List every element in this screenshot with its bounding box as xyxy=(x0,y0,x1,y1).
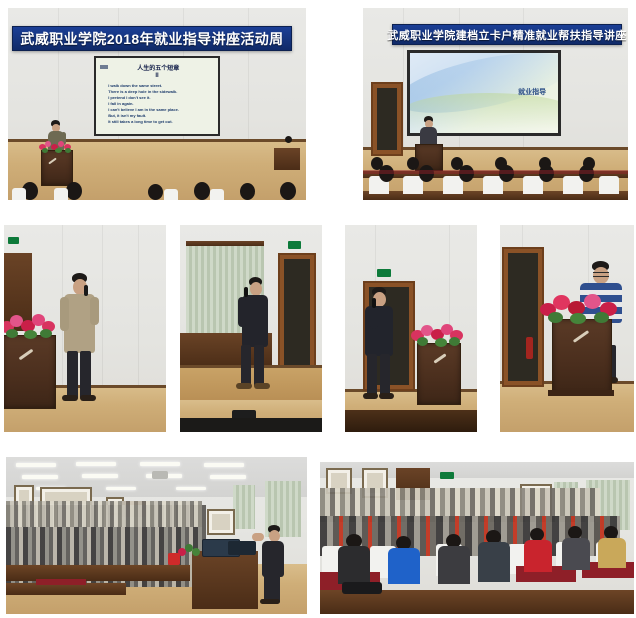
photo-5 xyxy=(345,225,477,432)
podium-flowers-5 xyxy=(411,321,465,347)
side-desk xyxy=(274,148,300,170)
photo-2: 武威职业学院建档立卡户精准就业帮扶指导讲座 就业指导 xyxy=(363,8,628,200)
slide-line-3: I pretend I don't see it. xyxy=(108,95,211,100)
front-bench xyxy=(345,410,477,432)
ceiling-light xyxy=(210,475,246,479)
bench-row xyxy=(6,565,190,581)
slide-line-7: It still takes a long time to get out. xyxy=(108,119,211,124)
ceiling-light xyxy=(106,487,136,490)
door-fire-extinguisher xyxy=(526,337,533,359)
speaker-leg-right xyxy=(254,345,264,387)
stage-edge xyxy=(180,365,322,368)
slide-line-5: I can't believe I am in the same place. xyxy=(108,107,211,112)
speaker-arm xyxy=(370,307,378,329)
slide-watermark-2: 就业指导 xyxy=(518,87,546,97)
ceiling-light xyxy=(22,475,58,479)
speaker-leg-left xyxy=(367,354,377,396)
speaker-shoe-right xyxy=(379,393,394,399)
photo-6 xyxy=(500,225,634,432)
speaker-shoe-right xyxy=(254,383,270,389)
speaker-arm-right xyxy=(90,297,99,325)
exit-sign-icon xyxy=(377,269,391,277)
front-row-shadow xyxy=(180,418,322,432)
exit-sign-icon xyxy=(440,472,454,479)
event-banner-1: 武威职业学院2018年就业指导讲座活动周 xyxy=(12,26,292,51)
ceiling-light xyxy=(76,462,116,466)
door-panel xyxy=(377,88,397,150)
speaker-shoe-left xyxy=(363,393,378,399)
side-attendee-head xyxy=(285,136,292,143)
laptop-icon xyxy=(228,541,256,555)
picture-content xyxy=(212,514,230,530)
audience-rows-2 xyxy=(363,148,628,200)
lectern-flowers xyxy=(178,543,200,559)
podium-flowers-3 xyxy=(4,311,58,339)
podium-flowers-6 xyxy=(540,289,620,323)
microphone-icon xyxy=(372,298,376,308)
slide-line-1: I walk down the same street. xyxy=(108,83,211,88)
speaker-body xyxy=(262,541,284,577)
attendee-body xyxy=(338,546,370,584)
speaker-head xyxy=(250,282,262,296)
attendee-body xyxy=(388,548,420,584)
ceiling-light xyxy=(204,463,244,467)
slide-line-6: But, it isn't my fault. xyxy=(108,113,211,118)
event-banner-2: 武威职业学院建档立卡户精准就业帮扶指导讲座 xyxy=(392,24,622,45)
hall-door xyxy=(502,247,544,387)
photo-3 xyxy=(4,225,166,432)
exit-sign-icon xyxy=(8,237,19,244)
glasses-icon xyxy=(593,272,609,277)
slide-line-2: There is a deep hole in the sidewalk. xyxy=(108,89,211,94)
speaker-leg-right xyxy=(80,351,91,399)
event-banner-2-text: 武威职业学院建档立卡户精准就业帮扶指导讲座 xyxy=(387,27,626,43)
ceiling-light xyxy=(176,487,206,490)
speaker-leg-right xyxy=(380,354,390,396)
slide-title-1: 人生的五个短章 xyxy=(106,63,211,72)
speaker-leg-left xyxy=(67,351,78,399)
audience-block-back xyxy=(6,501,202,527)
podium-base xyxy=(548,390,614,396)
speaker-arm xyxy=(238,297,246,327)
podium-5 xyxy=(417,343,461,405)
red-bucket xyxy=(168,553,180,565)
bag-on-bench xyxy=(342,582,382,594)
hall-door xyxy=(278,253,316,371)
curtain-rail xyxy=(186,241,264,246)
projector-icon xyxy=(152,471,168,479)
photo-8 xyxy=(320,462,634,614)
door-panel xyxy=(508,253,538,381)
event-banner-1-text: 武威职业学院2018年就业指导讲座活动周 xyxy=(20,29,283,49)
wall-picture-frame xyxy=(207,509,235,535)
podium-6 xyxy=(552,319,612,395)
speaker-arm-raised xyxy=(252,533,264,541)
hall-curtain xyxy=(233,485,255,529)
attendee-body xyxy=(524,540,552,572)
audience-row-1 xyxy=(8,174,306,200)
lectern xyxy=(192,551,258,609)
attendee-body xyxy=(598,538,626,568)
photo-1: 武威职业学院2018年就业指导讲座活动周 人生的五个短章 II I walk d… xyxy=(8,8,306,200)
speaker-shoe xyxy=(260,599,280,604)
speaker-leg-left xyxy=(241,345,251,387)
ceiling-light xyxy=(82,474,118,478)
attendee-body xyxy=(562,538,590,570)
podium-3 xyxy=(4,335,56,409)
photo-4 xyxy=(180,225,322,432)
microphone-icon xyxy=(244,287,248,297)
photo-7 xyxy=(6,457,307,614)
projection-screen-1: 人生的五个短章 II I walk down the same street. … xyxy=(94,56,220,136)
ceiling-light xyxy=(140,462,180,466)
slide-line-4: I fall in again. xyxy=(108,101,211,106)
hall-door xyxy=(371,82,403,156)
podium-flowers-1 xyxy=(38,140,74,154)
speaker-arm-left xyxy=(60,297,69,331)
seat-cushion xyxy=(36,579,86,585)
slide-chapter-1: II xyxy=(96,73,218,79)
microphone-icon xyxy=(84,285,88,296)
photo-collage: 武威职业学院2018年就业指导讲座活动周 人生的五个短章 II I walk d… xyxy=(0,0,636,618)
ceiling-light xyxy=(16,463,56,467)
speaker-shoe-left xyxy=(236,383,252,389)
speaker-shoe-right xyxy=(80,395,96,401)
attendee-body xyxy=(438,546,470,584)
picture-content xyxy=(331,473,347,489)
speaker-shoe-left xyxy=(62,395,78,401)
door-panel xyxy=(284,259,310,365)
attendee-body xyxy=(478,542,510,582)
exit-sign-icon xyxy=(288,241,301,249)
